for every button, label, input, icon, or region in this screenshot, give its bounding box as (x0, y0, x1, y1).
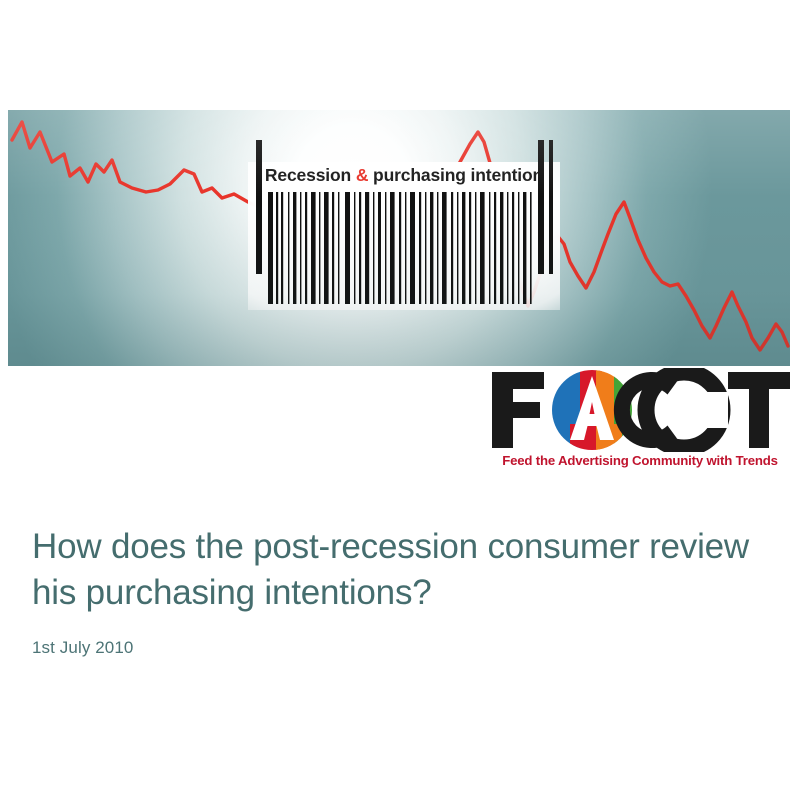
title-block: How does the post-recession consumer rev… (32, 524, 752, 658)
page-title: How does the post-recession consumer rev… (32, 524, 752, 616)
presentation-date: 1st July 2010 (32, 638, 752, 658)
hero-vignette-overlay (8, 110, 790, 366)
fact-logo: Feed the Advertising Community with Tren… (488, 368, 792, 478)
logo-letter-t (728, 372, 790, 448)
fact-wordmark (488, 368, 792, 452)
hero-banner: Recession & purchasing intention (8, 110, 790, 366)
logo-letter-f (492, 372, 544, 448)
fact-tagline: Feed the Advertising Community with Tren… (488, 454, 792, 467)
